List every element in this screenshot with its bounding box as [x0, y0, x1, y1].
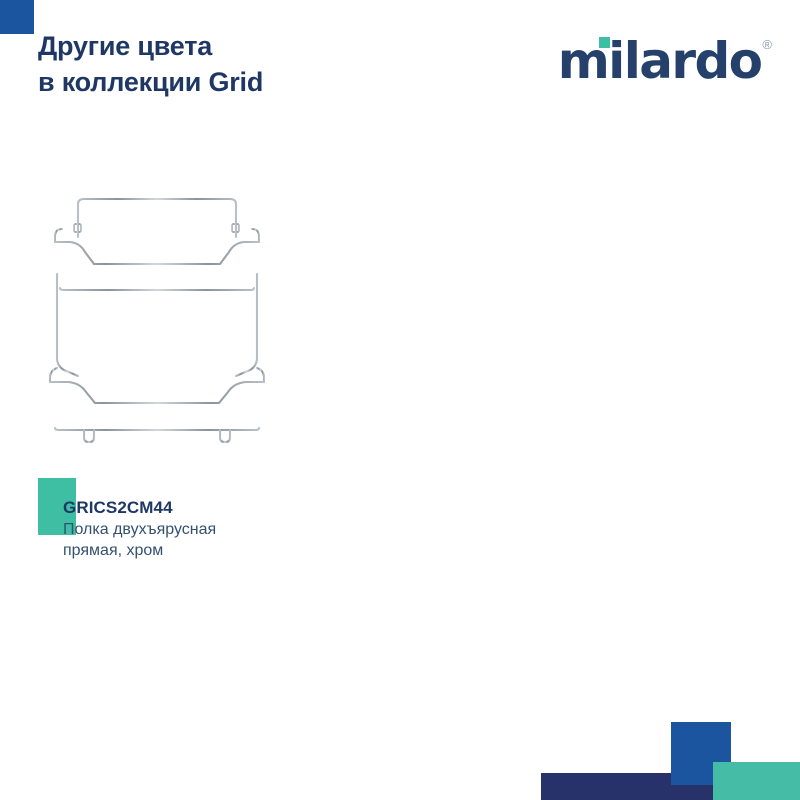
- brand-logo-dot-icon: [599, 37, 610, 48]
- promo-canvas: Другие цвета в коллекции Grid milardo ®: [0, 0, 800, 800]
- product-sku: GRICS2CM44: [63, 498, 363, 518]
- brand-logo-wordmark: milardo: [558, 36, 762, 86]
- brand-logo-text: milardo: [558, 32, 762, 90]
- corner-accent-square: [0, 0, 34, 34]
- product-image: [40, 180, 330, 450]
- page-title: Другие цвета в коллекции Grid: [38, 29, 458, 100]
- product-caption: GRICS2CM44 Полка двухъярусная прямая, хр…: [63, 498, 363, 561]
- page-title-line-2: в коллекции Grid: [38, 65, 458, 101]
- page-title-line-1: Другие цвета: [38, 29, 458, 65]
- registered-trademark-icon: ®: [762, 38, 772, 51]
- product-illustration: [40, 180, 330, 450]
- footer-teal-block: [713, 762, 800, 800]
- brand-logo: milardo ®: [558, 36, 772, 86]
- product-description: Полка двухъярусная прямая, хром: [63, 520, 363, 561]
